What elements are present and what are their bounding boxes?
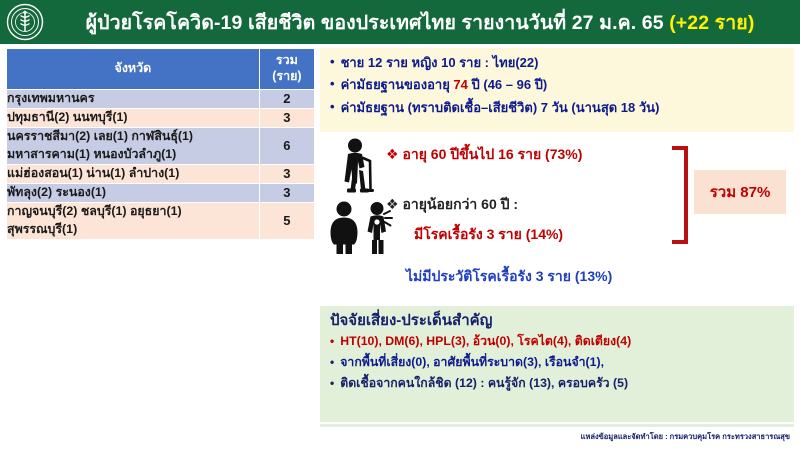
table-row: ปทุมธานี(2) นนทบุรี(1)3 bbox=[7, 108, 315, 127]
province-table: จังหวัด รวม (ราย) กรุงเทพมหานคร2ปทุมธานี… bbox=[6, 48, 315, 240]
cell-province: นครราชสีมา(2) เลย(1) กาฬสินธุ์(1)มหาสารค… bbox=[7, 127, 260, 164]
table-header-row: จังหวัด รวม (ราย) bbox=[7, 49, 315, 90]
no-chronic-disease-line: ไม่มีประวัติโรคเรื้อรัง 3 ราย (13%) bbox=[406, 266, 612, 288]
bullet-icon: • bbox=[330, 334, 334, 348]
chronic-disease-line: มีโรคเรื้อรัง 3 ราย (14%) bbox=[414, 224, 563, 246]
table-row: พัทลุง(2) ระนอง(1)3 bbox=[7, 183, 315, 202]
page-footer: แหล่งข้อมูลและจัดทำโดย : กรมควบคุมโรค กร… bbox=[0, 428, 800, 450]
risk-bullet-comorbidities: HT(10), DM(6), HPL(3), อ้วน(0), โรคไต(4)… bbox=[340, 334, 631, 350]
column-header-total-line1: รวม bbox=[276, 53, 298, 67]
cell-province: แม่ฮ่องสอน(1) น่าน(1) ลำปาง(1) bbox=[7, 164, 260, 183]
cell-total: 2 bbox=[259, 90, 314, 109]
list-item: • จากพื้นที่เสี่ยง(0), อาศัยพื้นที่ระบาด… bbox=[330, 355, 788, 371]
cell-province: กาญจนบุรี(2) ชลบุรี(1) อยุธยา(1)สุพรรณบุ… bbox=[7, 202, 260, 239]
bullet-icon: • bbox=[330, 55, 335, 70]
cell-total: 3 bbox=[259, 108, 314, 127]
age-breakdown-section: ❖ อายุ 60 ปีขึ้นไป 16 ราย (73%) ❖ อายุน้… bbox=[320, 132, 794, 304]
risk-factors-title: ปัจจัยเสี่ยง-ประเด็นสำคัญ bbox=[330, 312, 788, 330]
age-under-60-label: ❖ อายุน้อยกว่า 60 ปี : bbox=[386, 194, 518, 216]
page-header: ผู้ป่วยโรคโควิด-19 เสียชีวิต ของประเทศไท… bbox=[0, 0, 800, 44]
table-row: กาญจนบุรี(2) ชลบุรี(1) อยุธยา(1)สุพรรณบุ… bbox=[7, 202, 315, 239]
list-item: • ค่ามัธยฐานของอายุ 74 ปี (46 – 96 ปี) bbox=[330, 77, 786, 93]
source-attribution: แหล่งข้อมูลและจัดทำโดย : กรมควบคุมโรค กร… bbox=[581, 431, 790, 443]
column-header-total-line2: (ราย) bbox=[272, 69, 301, 83]
table-row: กรุงเทพมหานคร2 bbox=[7, 90, 315, 109]
list-item: • ชาย 12 ราย หญิง 10 ราย : ไทย(22) bbox=[330, 55, 786, 71]
summary-line-1: ชาย 12 ราย หญิง 10 ราย : ไทย(22) bbox=[341, 55, 539, 71]
cell-province: พัทลุง(2) ระนอง(1) bbox=[7, 183, 260, 202]
risk-bullet-exposure-area: จากพื้นที่เสี่ยง(0), อาศัยพื้นที่ระบาด(3… bbox=[340, 355, 604, 371]
grouping-bracket bbox=[672, 146, 688, 244]
province-table-body: กรุงเทพมหานคร2ปทุมธานี(2) นนทบุรี(1)3นคร… bbox=[7, 90, 315, 240]
list-item: • HT(10), DM(6), HPL(3), อ้วน(0), โรคไต(… bbox=[330, 334, 788, 350]
summary-line-2: ค่ามัธยฐานของอายุ 74 ปี (46 – 96 ปี) bbox=[341, 77, 548, 93]
bullet-icon: • bbox=[330, 355, 334, 369]
column-header-province: จังหวัด bbox=[7, 49, 260, 90]
risk-factors-section: ปัจจัยเสี่ยง-ประเด็นสำคัญ • HT(10), DM(6… bbox=[320, 306, 794, 422]
column-header-total: รวม (ราย) bbox=[259, 49, 314, 90]
province-table-container: จังหวัด รวม (ราย) กรุงเทพมหานคร2ปทุมธานี… bbox=[6, 48, 315, 240]
cell-total: 3 bbox=[259, 183, 314, 202]
list-item: • ค่ามัธยฐาน (ทราบติดเชื้อ–เสียชีวิต) 7 … bbox=[330, 100, 786, 116]
footer-divider bbox=[320, 424, 794, 427]
cell-province: กรุงเทพมหานคร bbox=[7, 90, 260, 109]
cell-total: 5 bbox=[259, 202, 314, 239]
table-row: แม่ฮ่องสอน(1) น่าน(1) ลำปาง(1)3 bbox=[7, 164, 315, 183]
cell-total: 6 bbox=[259, 127, 314, 164]
age-over-60-line: ❖ อายุ 60 ปีขึ้นไป 16 ราย (73%) bbox=[386, 144, 582, 166]
ministry-of-public-health-emblem-icon bbox=[6, 3, 44, 41]
infographic-page: ผู้ป่วยโรคโควิด-19 เสียชีวิต ของประเทศไท… bbox=[0, 0, 800, 450]
cell-province: ปทุมธานี(2) นนทบุรี(1) bbox=[7, 108, 260, 127]
table-row: นครราชสีมา(2) เลย(1) กาฬสินธุ์(1)มหาสารค… bbox=[7, 127, 315, 164]
bullet-icon: • bbox=[330, 376, 334, 390]
list-item: • ติดเชื้อจากคนใกล้ชิด (12) : คนรู้จัก (… bbox=[330, 376, 788, 392]
bullet-icon: • bbox=[330, 77, 335, 92]
median-age-value: 74 bbox=[453, 77, 467, 92]
new-cases-highlight: (+22 ราย) bbox=[669, 12, 754, 34]
page-title-main: ผู้ป่วยโรคโควิด-19 เสียชีวิต ของประเทศไท… bbox=[86, 12, 670, 34]
bullet-icon: • bbox=[330, 100, 335, 115]
page-title: ผู้ป่วยโรคโควิด-19 เสียชีวิต ของประเทศไท… bbox=[44, 7, 800, 38]
total-percentage-badge: รวม 87% bbox=[694, 170, 786, 214]
summary-box: • ชาย 12 ราย หญิง 10 ราย : ไทย(22) • ค่า… bbox=[320, 48, 794, 132]
elderly-person-with-cane-icon bbox=[328, 137, 382, 200]
obese-person-icon bbox=[331, 202, 358, 255]
risk-bullet-close-contact: ติดเชื้อจากคนใกล้ชิด (12) : คนรู้จัก (13… bbox=[340, 376, 628, 392]
cell-total: 3 bbox=[259, 164, 314, 183]
summary-line-3: ค่ามัธยฐาน (ทราบติดเชื้อ–เสียชีวิต) 7 วั… bbox=[341, 100, 660, 116]
